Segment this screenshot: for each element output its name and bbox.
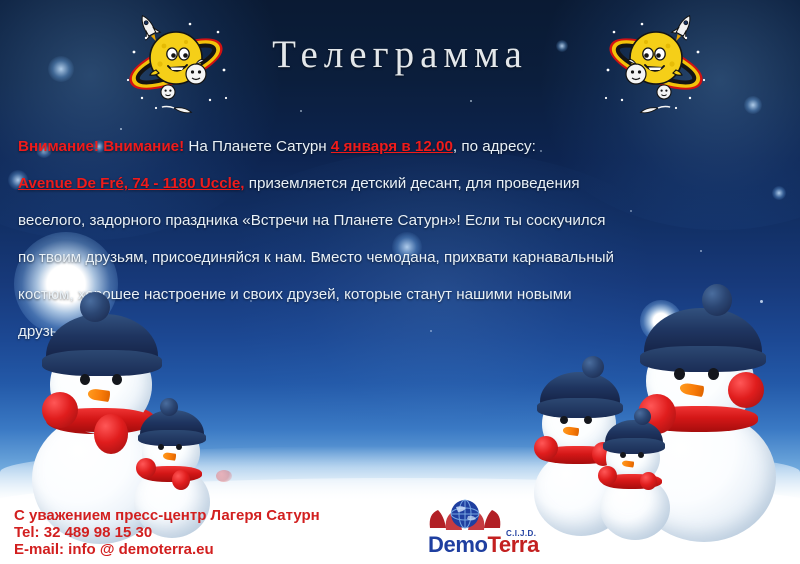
- body-line-1: Внимание! Внимание! На Планете Сатурн 4 …: [18, 128, 784, 165]
- body-line-1-b: , по адресу:: [453, 138, 536, 155]
- body-line-5: костюм, хорошее настроение и своих друзе…: [18, 276, 784, 313]
- logo-terra-text: Terra: [488, 532, 539, 557]
- event-address: Avenue De Fré, 74 - 1180 Uccle,: [18, 175, 245, 192]
- event-datetime: 4 января в 12.00: [331, 138, 453, 155]
- attention-text: Внимание! Внимание!: [18, 138, 184, 155]
- footer-email: E-mail: info @ demoterra.eu: [14, 541, 320, 558]
- red-ball-decoration: [216, 470, 232, 482]
- saturn-mascot-icon-right: [598, 12, 710, 116]
- body-line-2-text: приземляется детский десант, для проведе…: [245, 175, 580, 192]
- body-line-3: веселого, задорного праздника «Встречи н…: [18, 202, 784, 239]
- demoterra-logo: C.I.J.D. DemoTerra: [428, 502, 548, 556]
- body-line-1-a: На Планете Сатурн: [184, 138, 331, 155]
- logo-wordmark: DemoTerra: [428, 532, 552, 558]
- footer-signature: С уважением пресс-центр Лагеря Сатурн: [14, 507, 320, 524]
- footer-contact: С уважением пресс-центр Лагеря Сатурн Te…: [14, 507, 320, 558]
- telegram-poster: Телеграмма: [0, 0, 800, 564]
- snowman-right-small: [596, 428, 682, 540]
- logo-demo-text: Demo: [428, 532, 488, 557]
- body-line-2: Avenue De Fré, 74 - 1180 Uccle, приземля…: [18, 165, 784, 202]
- body-line-4: по твоим друзьям, присоединяйся к нам. В…: [18, 239, 784, 276]
- footer-phone: Tel: 32 489 98 15 30: [14, 524, 320, 541]
- poster-header: Телеграмма: [0, 0, 800, 124]
